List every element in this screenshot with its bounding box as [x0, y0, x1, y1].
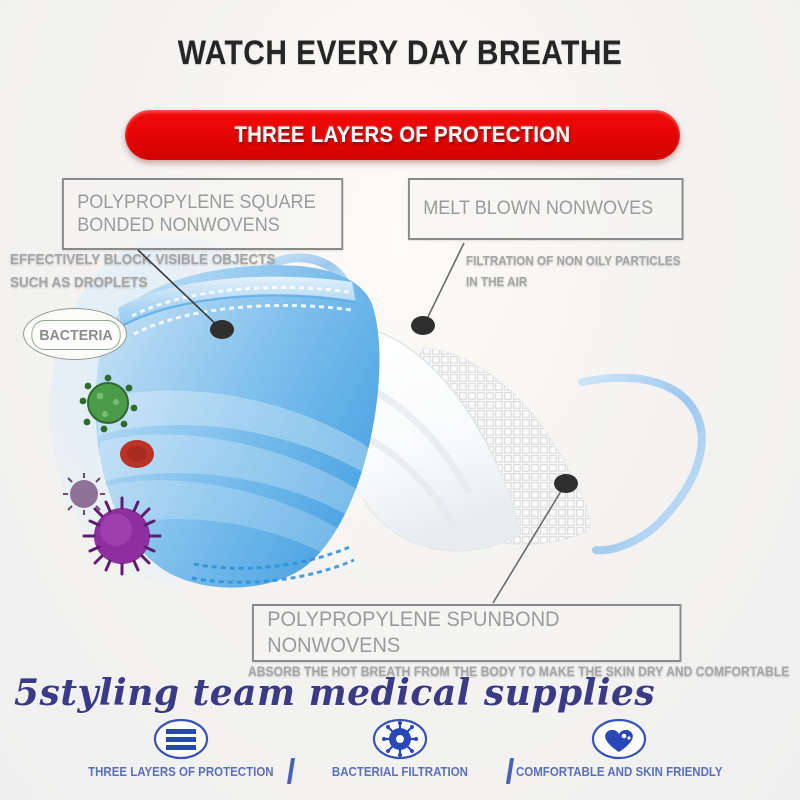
badge-label: BACTERIA [31, 320, 120, 350]
feature-label: THREE LAYERS OF PROTECTION [88, 765, 274, 779]
feature-three-layers: THREE LAYERS OF PROTECTION [74, 718, 289, 779]
callout-dot-3 [554, 474, 578, 493]
infographic-canvas: WATCH EVERY DAY BREATHE THREE LAYERS OF … [0, 0, 800, 800]
three-bars-icon [153, 718, 209, 760]
bacteria-badge: BACTERIA [23, 308, 127, 360]
heart-icon [591, 718, 647, 760]
feature-label: BACTERIAL FILTRATION [332, 765, 468, 779]
leader-line-3 [493, 483, 566, 603]
leader-line-2 [424, 243, 464, 325]
feature-label: COMFORTABLE AND SKIN FRIENDLY [516, 765, 723, 779]
leader-line-1 [138, 250, 222, 330]
feature-strip: THREE LAYERS OF PROTECTION [0, 718, 800, 800]
feature-bacterial-filtration: BACTERIAL FILTRATION [293, 718, 508, 779]
feature-comfortable-skin-friendly: COMFORTABLE AND SKIN FRIENDLY [512, 718, 727, 779]
virus-icon [372, 718, 428, 760]
callout-dot-1 [210, 320, 234, 339]
callout-dot-2 [411, 316, 435, 335]
brand-name: 5styling team medical supplies [14, 672, 655, 714]
